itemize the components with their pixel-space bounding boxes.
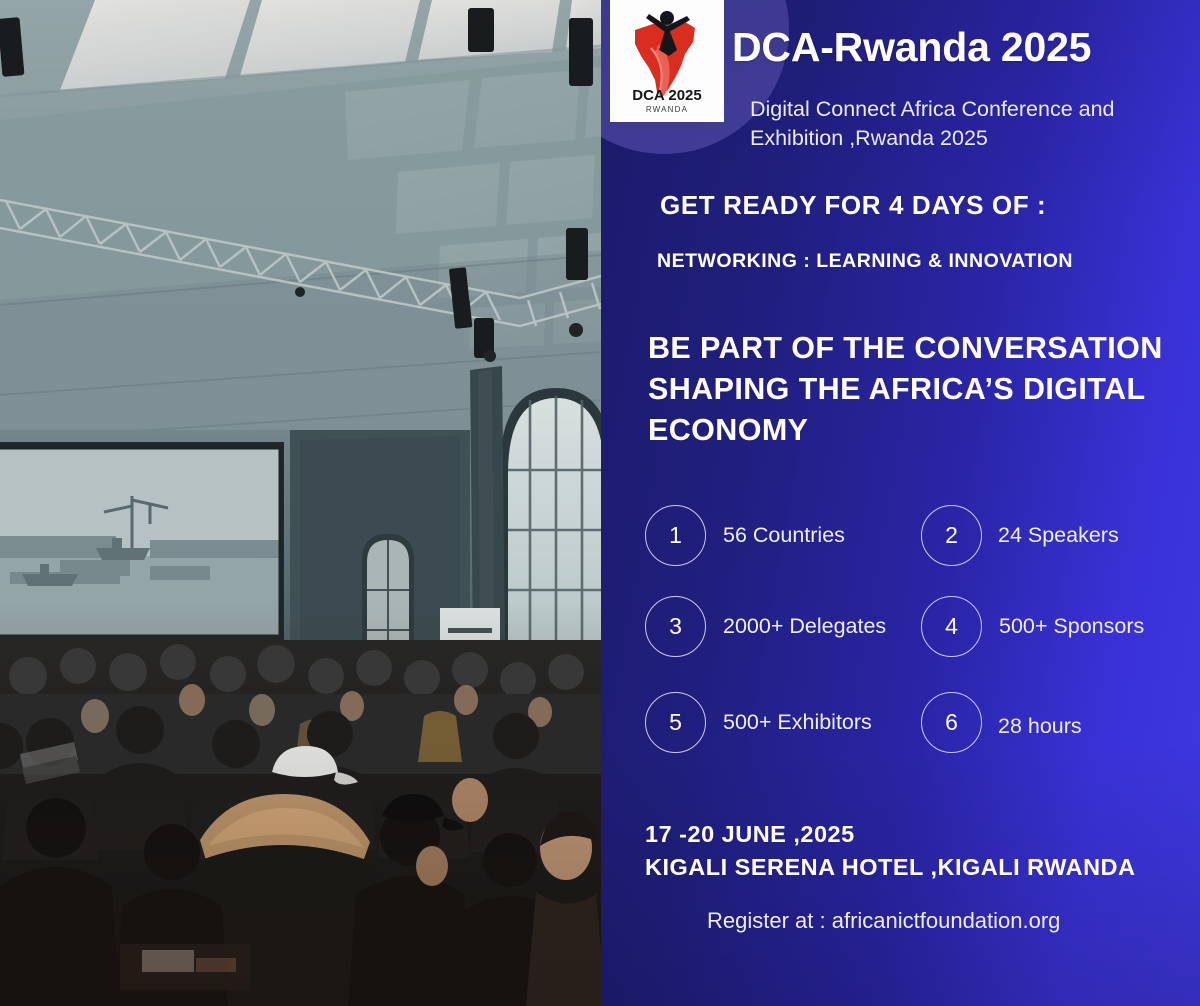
info-panel: DCA 2025 RWANDA DCA-Rwanda 2025 Digital … [601,0,1200,1006]
stat-item: 5 500+ Exhibitors [645,692,872,753]
stats-row: 3 2000+ Delegates 4 500+ Sponsors [645,596,1185,692]
stat-number-circle: 2 [921,505,982,566]
stat-item: 2 24 Speakers [921,505,1119,566]
conference-photo [0,0,601,1006]
stat-item: 4 500+ Sponsors [921,596,1144,657]
event-venue: KIGALI SERENA HOTEL ,KIGALI RWANDA [645,851,1136,884]
stat-item: 1 56 Countries [645,505,845,566]
get-ready-heading: GET READY FOR 4 DAYS OF : [660,190,1046,221]
main-headline: BE PART OF THE CONVERSATION SHAPING THE … [648,328,1178,451]
event-when-where: 17 -20 JUNE ,2025 KIGALI SERENA HOTEL ,K… [645,818,1136,885]
dca-africa-logo: DCA 2025 RWANDA [610,0,724,122]
stat-label: 28 hours [998,714,1082,739]
stat-label: 500+ Exhibitors [723,710,872,735]
register-cta[interactable]: Register at : africanictfoundation.org [707,908,1060,934]
stat-label: 24 Speakers [998,523,1119,548]
tagline: NETWORKING : LEARNING & INNOVATION [657,250,1073,273]
stat-label: 500+ Sponsors [999,614,1144,639]
stat-number-circle: 1 [645,505,706,566]
stat-number-circle: 6 [921,692,982,753]
stats-row: 5 500+ Exhibitors 6 28 hours [645,692,1185,788]
stat-label: 2000+ Delegates [723,614,886,639]
brand-subtitle: Digital Connect Africa Conference and Ex… [750,95,1170,152]
stat-number-circle: 4 [921,596,982,657]
conference-photo-illustration [0,0,601,1006]
page-title: DCA-Rwanda 2025 [732,24,1091,71]
stat-number-circle: 5 [645,692,706,753]
stat-item: 3 2000+ Delegates [645,596,886,657]
stats-grid: 1 56 Countries 2 24 Speakers 3 2000+ Del… [645,500,1185,788]
stats-row: 1 56 Countries 2 24 Speakers [645,500,1185,596]
logo-line2: RWANDA [646,105,688,114]
poster: DCA 2025 RWANDA DCA-Rwanda 2025 Digital … [0,0,1200,1006]
logo-artwork: DCA 2025 RWANDA [615,4,719,118]
event-dates: 17 -20 JUNE ,2025 [645,818,1136,851]
logo-line1: DCA 2025 [632,87,701,104]
stat-item: 6 28 hours [921,700,1082,753]
stat-number-circle: 3 [645,596,706,657]
stat-label: 56 Countries [723,523,845,548]
